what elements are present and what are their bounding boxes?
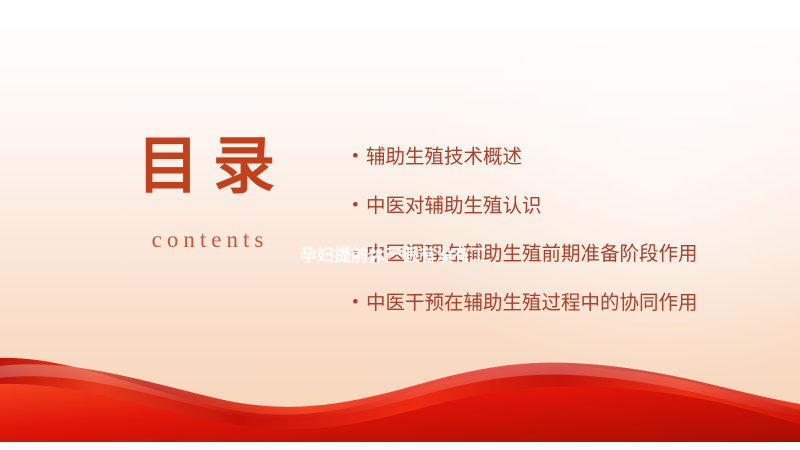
slide-canvas: 目录 contents • 辅助生殖技术概述 • 中医对辅助生殖认识 • 中医调…	[0, 0, 800, 450]
list-item-label: 中医调理在辅助生殖前期准备阶段作用	[366, 239, 732, 271]
list-item-label: 辅助生殖技术概述	[366, 142, 732, 174]
list-item[interactable]: • 中医对辅助生殖认识	[352, 191, 732, 223]
bullet-icon: •	[352, 191, 366, 222]
list-item-label: 中医干预在辅助生殖过程中的协同作用	[366, 288, 732, 320]
bullet-icon: •	[352, 239, 366, 270]
list-item[interactable]: • 辅助生殖技术概述	[352, 142, 732, 174]
list-item[interactable]: • 中医干预在辅助生殖过程中的协同作用	[352, 288, 732, 320]
letterbox-bottom-bar	[0, 442, 800, 450]
slide-content-area: 目录 contents • 辅助生殖技术概述 • 中医对辅助生殖认识 • 中医调…	[0, 28, 800, 442]
page-title-english: contents	[98, 227, 322, 253]
letterbox-top-bar	[0, 0, 800, 28]
page-title-chinese: 目录	[104, 134, 322, 201]
bullet-icon: •	[352, 288, 366, 319]
list-item-label: 中医对辅助生殖认识	[366, 191, 732, 223]
title-block: 目录 contents	[92, 134, 322, 253]
bullet-icon: •	[352, 142, 366, 173]
contents-list: • 辅助生殖技术概述 • 中医对辅助生殖认识 • 中医调理在辅助生殖前期准备阶段…	[352, 142, 732, 319]
list-item[interactable]: • 中医调理在辅助生殖前期准备阶段作用	[352, 239, 732, 271]
red-ribbon-decoration	[0, 332, 800, 442]
